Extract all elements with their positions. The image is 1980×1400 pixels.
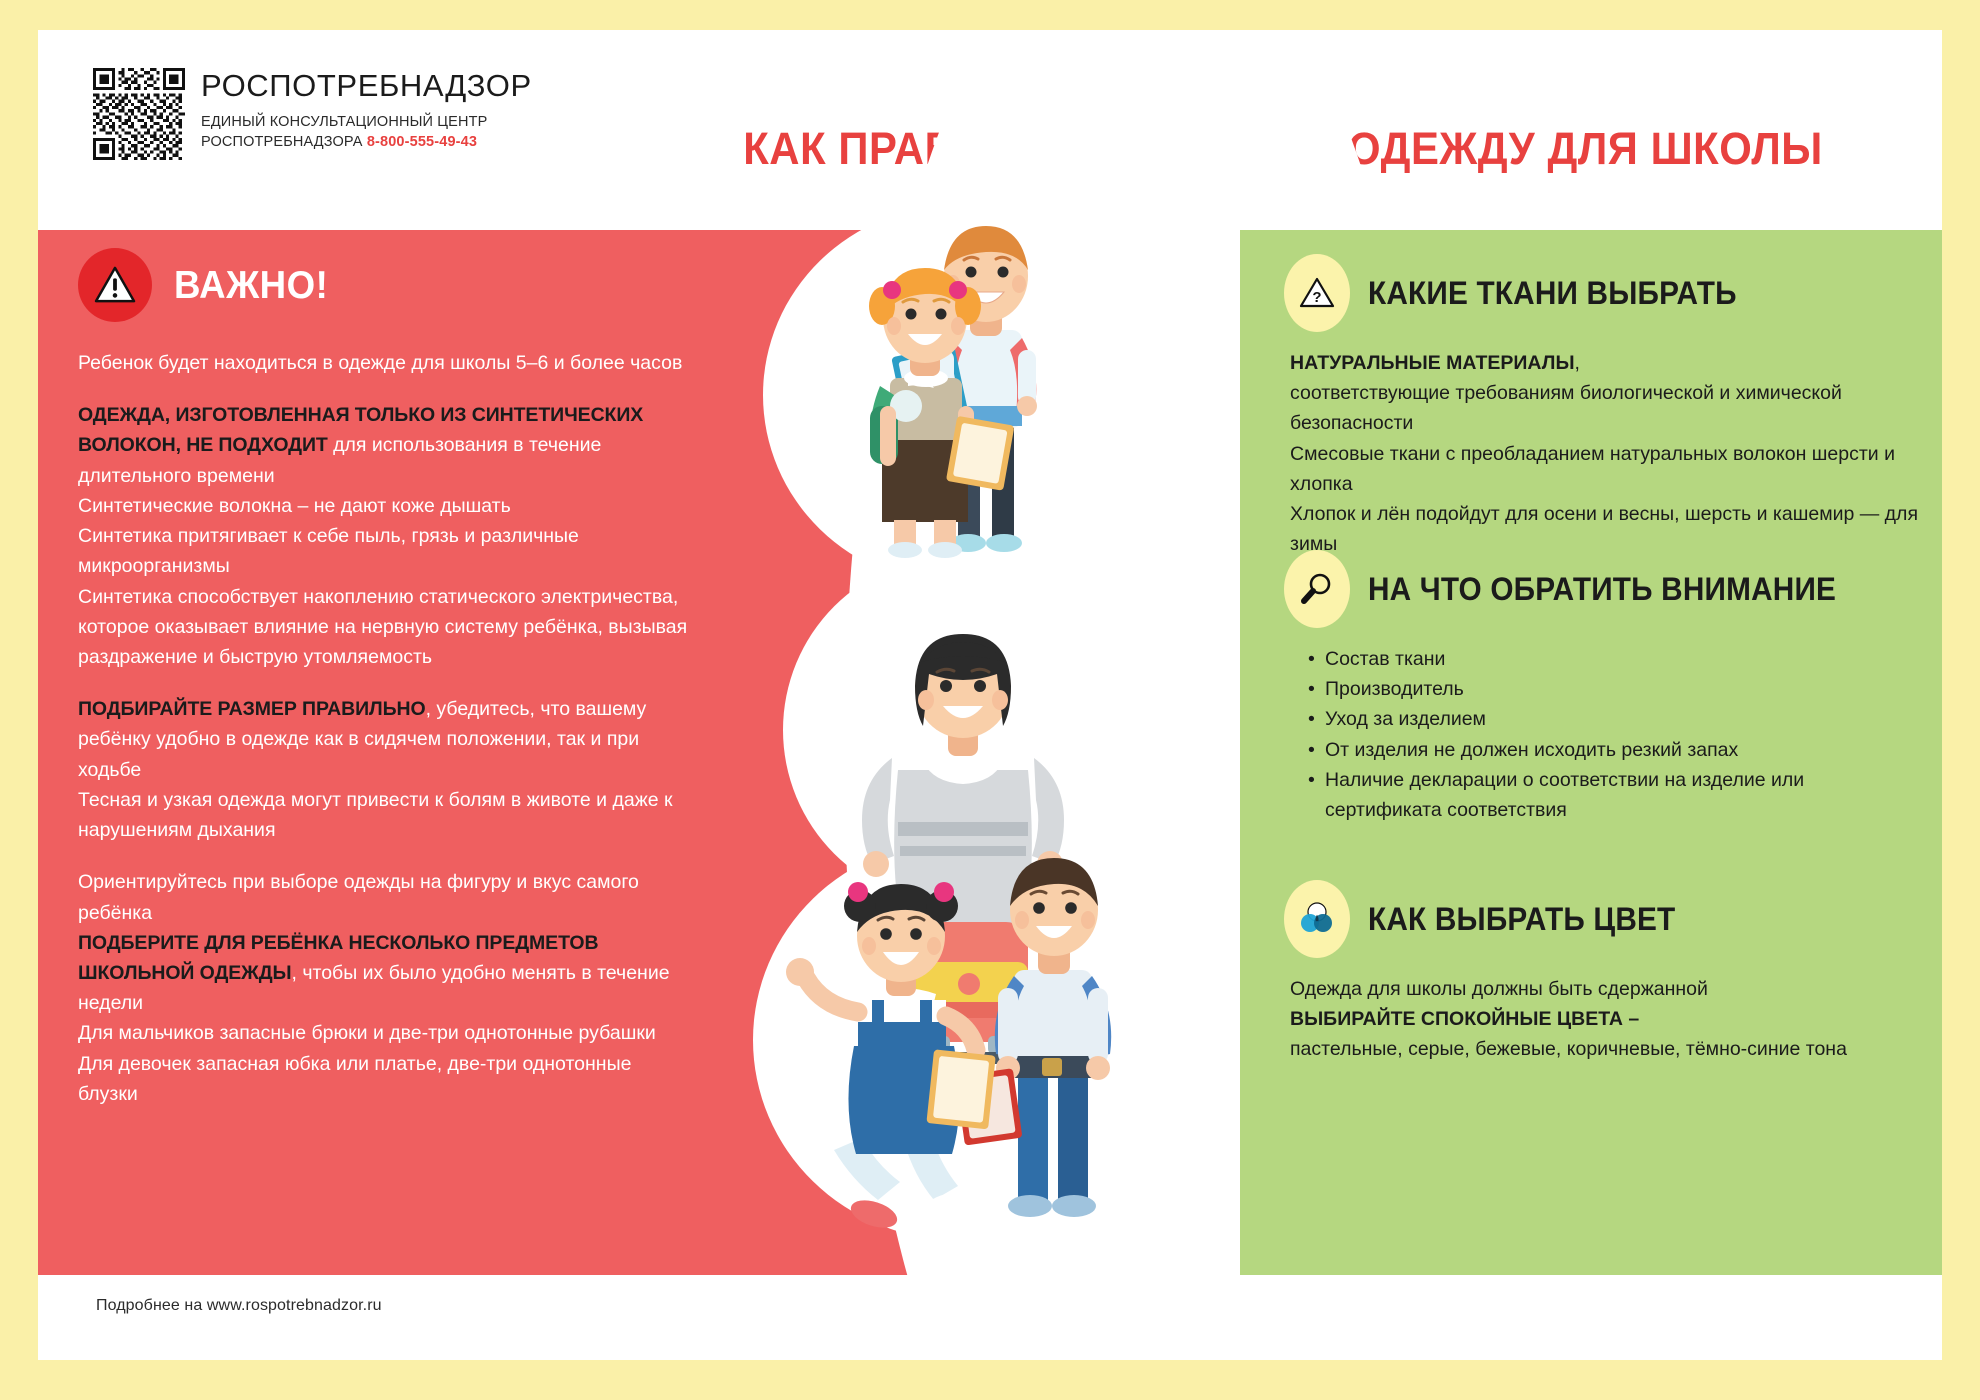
section-fabrics: ? КАКИЕ ТКАНИ ВЫБРАТЬ НАТУРАЛЬНЫЕ МАТЕРИ… [1284,254,1924,560]
section-fabrics-title: КАКИЕ ТКАНИ ВЫБРАТЬ [1368,277,1737,309]
poster-card: РОСПОТРЕБНАДЗОР ЕДИНЫЙ КОНСУЛЬТАЦИОННЫЙ … [38,30,1942,1360]
list-item: Состав ткани [1308,644,1924,674]
section-fabrics-heading: ? КАКИЕ ТКАНИ ВЫБРАТЬ [1284,254,1924,332]
rospotrebnadzor-logo: РОСПОТРЕБНАДЗОР ЕДИНЫЙ КОНСУЛЬТАЦИОННЫЙ … [93,68,532,160]
list-item: Уход за изделием [1308,704,1924,734]
logo-text-block: РОСПОТРЕБНАДЗОР ЕДИНЫЙ КОНСУЛЬТАЦИОННЫЙ … [201,68,532,152]
color-bold: ВЫБИРАЙТЕ СПОКОЙНЫЕ ЦВЕТА – [1290,1004,1924,1034]
illustration-svg [658,210,1258,1275]
logo-subtitle-line1: ЕДИНЫЙ КОНСУЛЬТАЦИОННЫЙ ЦЕНТР [201,114,487,130]
magnifier-icon [1298,570,1336,608]
section-color-heading: КАК ВЫБРАТЬ ЦВЕТ [1284,880,1924,958]
important-panel-content: ВАЖНО! Ребенок будет находиться в одежде… [78,230,688,1109]
important-line: Для девочек запасная юбка или платье, дв… [78,1049,688,1109]
color-circles-icon [1297,899,1337,939]
fabrics-lead-bold: НАТУРАЛЬНЫЕ МАТЕРИАЛЫ [1290,352,1575,374]
attention-bullet-list: Состав ткани Производитель Уход за издел… [1308,644,1924,825]
footer-link[interactable]: Подробнее на www.rospotrebnadzor.ru [96,1297,382,1315]
color-badge [1284,880,1350,958]
content-band: ВАЖНО! Ребенок будет находиться в одежде… [38,230,1942,1275]
important-title: ВАЖНО! [174,266,328,305]
important-body: Ребенок будет находиться в одежде для шк… [78,348,688,1109]
spacer [78,672,688,694]
qr-code-icon [93,68,185,160]
recommendations-content: ? КАКИЕ ТКАНИ ВЫБРАТЬ НАТУРАЛЬНЫЕ МАТЕРИ… [1240,230,1942,1275]
fabrics-badge: ? [1284,254,1350,332]
attention-badge [1284,550,1350,628]
fabrics-lead-rest: , [1575,352,1580,374]
section-color-body: Одежда для школы должны быть сдержанной … [1290,974,1924,1065]
important-line: Синтетические волокна – не дают коже дыш… [78,491,688,521]
poster-page: РОСПОТРЕБНАДЗОР ЕДИНЫЙ КОНСУЛЬТАЦИОННЫЙ … [0,0,1980,1400]
section-attention-heading: НА ЧТО ОБРАТИТЬ ВНИМАНИЕ [1284,550,1924,628]
logo-subtitle: ЕДИНЫЙ КОНСУЛЬТАЦИОННЫЙ ЦЕНТР РОСПОТРЕБН… [201,112,532,152]
color-line: Одежда для школы должны быть сдержанной [1290,974,1924,1004]
important-block-2: ПОДБИРАЙТЕ РАЗМЕР ПРАВИЛЬНО, убедитесь, … [78,694,688,785]
important-heading-row: ВАЖНО! [78,248,688,322]
important-line: Синтетика способствует накоплению статич… [78,582,688,673]
important-line: Ориентируйтесь при выборе одежды на фигу… [78,867,688,927]
spacer [78,845,688,867]
section-fabrics-body: НАТУРАЛЬНЫЕ МАТЕРИАЛЫ, соответствующие т… [1290,348,1924,560]
important-line: Тесная и узкая одежда могут привести к б… [78,785,688,845]
color-bold-text: ВЫБИРАЙТЕ СПОКОЙНЫЕ ЦВЕТА – [1290,1008,1639,1030]
section-color-title: КАК ВЫБРАТЬ ЦВЕТ [1368,903,1675,935]
warning-badge [78,248,152,322]
section-color: КАК ВЫБРАТЬ ЦВЕТ Одежда для школы должны… [1284,880,1924,1065]
list-item: Наличие декларации о соответствии на изд… [1308,765,1924,825]
logo-subtitle-line2: РОСПОТРЕБНАДЗОРА [201,134,363,150]
warning-triangle-icon [94,266,136,304]
important-block-3: ПОДБЕРИТЕ ДЛЯ РЕБЁНКА НЕСКОЛЬКО ПРЕДМЕТО… [78,928,688,1019]
color-line: пастельные, серые, бежевые, коричневые, … [1290,1034,1924,1064]
important-intro: Ребенок будет находиться в одежде для шк… [78,348,688,378]
logo-title: РОСПОТРЕБНАДЗОР [201,70,532,101]
important-line: Синтетика притягивает к себе пыль, грязь… [78,521,688,581]
important-block-2-bold: ПОДБИРАЙТЕ РАЗМЕР ПРАВИЛЬНО [78,698,426,720]
hotline-phone[interactable]: 8-800-555-49-43 [367,134,477,150]
recommendations-panel: ? КАКИЕ ТКАНИ ВЫБРАТЬ НАТУРАЛЬНЫЕ МАТЕРИ… [1240,230,1942,1275]
section-attention-title: НА ЧТО ОБРАТИТЬ ВНИМАНИЕ [1368,573,1836,605]
section-attention: НА ЧТО ОБРАТИТЬ ВНИМАНИЕ Состав ткани Пр… [1284,550,1924,825]
important-line: Для мальчиков запасные брюки и две-три о… [78,1018,688,1048]
list-item: От изделия не должен исходить резкий зап… [1308,735,1924,765]
poster-footer: Подробнее на www.rospotrebnadzor.ru [38,1275,1942,1360]
important-block-1: ОДЕЖДА, ИЗГОТОВЛЕННАЯ ТОЛЬКО ИЗ СИНТЕТИЧ… [78,400,688,491]
list-item: Производитель [1308,674,1924,704]
question-triangle-icon: ? [1299,277,1335,309]
spacer [78,378,688,400]
schoolchildren-illustration [658,210,1258,1275]
svg-text:?: ? [1312,289,1321,306]
fabrics-line: Смесовые ткани с преобладанием натуральн… [1290,439,1924,499]
fabrics-lead: НАТУРАЛЬНЫЕ МАТЕРИАЛЫ, [1290,348,1924,378]
fabrics-line: соответствующие требованиям биологическо… [1290,378,1924,438]
